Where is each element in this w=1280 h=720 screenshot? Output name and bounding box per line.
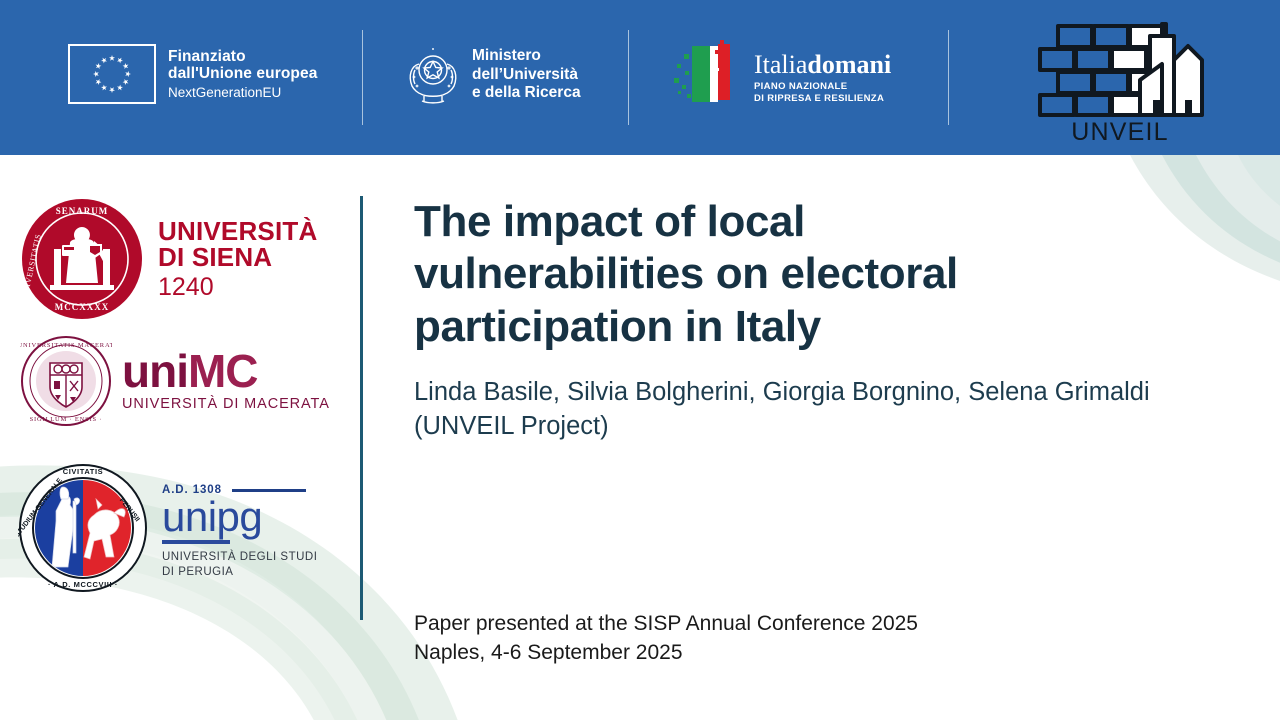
university-logo-column: SENARUM MCCXXXX UNIVERSITATIS UNIVERSITÀ…	[0, 175, 352, 645]
svg-text:CIVITATIS: CIVITATIS	[63, 467, 104, 476]
university-of-perugia-logo: CIVITATIS · A.D. MCCCVIII · STUDIUM GENE…	[18, 463, 317, 593]
siena-year: 1240	[158, 275, 317, 301]
siena-name-line-2: DI SIENA	[158, 244, 317, 271]
unipg-wordmark: unipg	[162, 498, 317, 536]
authors-block: Linda Basile, Silvia Bolgherini, Giorgia…	[414, 375, 1184, 443]
eu-funding-logo: Finanziato dall'Unione europea NextGener…	[68, 44, 317, 104]
authors-names: Linda Basile, Silvia Bolgherini, Giorgia…	[414, 375, 1184, 409]
content-divider	[360, 196, 363, 620]
unveil-project-logo: UNVEIL	[1022, 20, 1218, 145]
unimc-word-part2: MC	[188, 345, 258, 397]
svg-text:SIGILLUM · ENSIS ·: SIGILLUM · ENSIS ·	[30, 416, 103, 423]
university-of-siena-crest-icon: SENARUM MCCXXXX UNIVERSITATIS	[20, 197, 144, 321]
unipg-sub-line1: UNIVERSITÀ DEGLI STUDI	[162, 550, 317, 565]
italia-domani-logo: Italiadomani PIANO NAZIONALE DI RIPRESA …	[668, 38, 891, 110]
ministry-line-1: Ministero	[472, 47, 581, 66]
italia-domani-text: Italiadomani PIANO NAZIONALE DI RIPRESA …	[754, 52, 891, 105]
svg-text:SENARUM: SENARUM	[56, 206, 109, 216]
ministry-line-3: e della Ricerca	[472, 84, 581, 103]
unipg-subtitle: UNIVERSITÀ DEGLI STUDI DI PERUGIA	[162, 550, 317, 580]
unimc-subtitle: UNIVERSITÀ DI MACERATA	[122, 396, 330, 412]
ministry-logo: Ministero dell’Università e della Ricerc…	[404, 44, 581, 106]
italia-domani-wordmark: Italiadomani	[754, 52, 891, 78]
conference-line-2: Naples, 4-6 September 2025	[414, 639, 918, 668]
conference-block: Paper presented at the SISP Annual Confe…	[414, 610, 918, 668]
conference-line-1: Paper presented at the SISP Annual Confe…	[414, 610, 918, 639]
page-title: The impact of local vulnerabilities on e…	[414, 196, 1104, 353]
italian-republic-emblem-icon	[404, 44, 462, 106]
university-of-macerata-logo: UNIVERSITATIS MACERAT SIGILLUM · ENSIS ·…	[20, 335, 330, 427]
unipg-founded-rule	[232, 489, 306, 492]
authors-project: (UNVEIL Project)	[414, 409, 1184, 443]
italia-domani-sub-line2: DI RIPRESA E RESILIENZA	[754, 93, 891, 105]
italia-domani-word-part2: domani	[807, 50, 891, 79]
university-of-siena-text: UNIVERSITÀ DI SIENA 1240	[158, 218, 317, 301]
italian-flag-mark-icon	[668, 38, 748, 110]
unipg-sub-line2: DI PERUGIA	[162, 565, 317, 580]
italia-domani-subtitle: PIANO NAZIONALE DI RIPRESA E RESILIENZA	[754, 81, 891, 105]
svg-text:UNIVERSITATIS MACERAT: UNIVERSITATIS MACERAT	[20, 342, 112, 349]
slide-content: The impact of local vulnerabilities on e…	[414, 196, 1214, 443]
italia-domani-sub-line1: PIANO NAZIONALE	[754, 81, 891, 93]
svg-text:· A.D. MCCCVIII ·: · A.D. MCCCVIII ·	[48, 580, 118, 589]
funder-banner: Finanziato dall'Unione europea NextGener…	[0, 0, 1280, 155]
banner-divider-2	[628, 30, 629, 125]
ministry-text: Ministero dell’Università e della Ricerc…	[472, 47, 581, 103]
italia-domani-word-part1: Italia	[754, 50, 807, 79]
university-of-macerata-text: uniMC UNIVERSITÀ DI MACERATA	[122, 350, 330, 411]
brick-wall-buildings-icon	[1034, 20, 1206, 118]
eu-line-2: dall'Unione europea	[168, 65, 317, 83]
eu-line-1: Finanziato	[168, 48, 317, 66]
siena-name-line-1: UNIVERSITÀ	[158, 218, 317, 245]
unimc-wordmark: uniMC	[122, 350, 330, 392]
unipg-underline	[162, 540, 230, 544]
svg-text:MCCXXXX: MCCXXXX	[55, 302, 110, 312]
banner-divider-1	[362, 30, 363, 125]
university-of-perugia-text: A.D. 1308 unipg UNIVERSITÀ DEGLI STUDI D…	[162, 484, 317, 580]
unveil-label: UNVEIL	[1022, 120, 1218, 145]
banner-divider-3	[948, 30, 949, 125]
eu-flag-icon	[68, 44, 156, 104]
unimc-word-part1: uni	[122, 345, 188, 397]
university-of-macerata-crest-icon: UNIVERSITATIS MACERAT SIGILLUM · ENSIS ·	[20, 335, 112, 427]
ministry-line-2: dell’Università	[472, 66, 581, 85]
eu-line-3: NextGenerationEU	[168, 85, 317, 100]
university-of-perugia-crest-icon: CIVITATIS · A.D. MCCCVIII · STUDIUM GENE…	[18, 463, 148, 593]
eu-funding-text: Finanziato dall'Unione europea NextGener…	[168, 48, 317, 101]
university-of-siena-logo: SENARUM MCCXXXX UNIVERSITATIS UNIVERSITÀ…	[20, 197, 317, 321]
